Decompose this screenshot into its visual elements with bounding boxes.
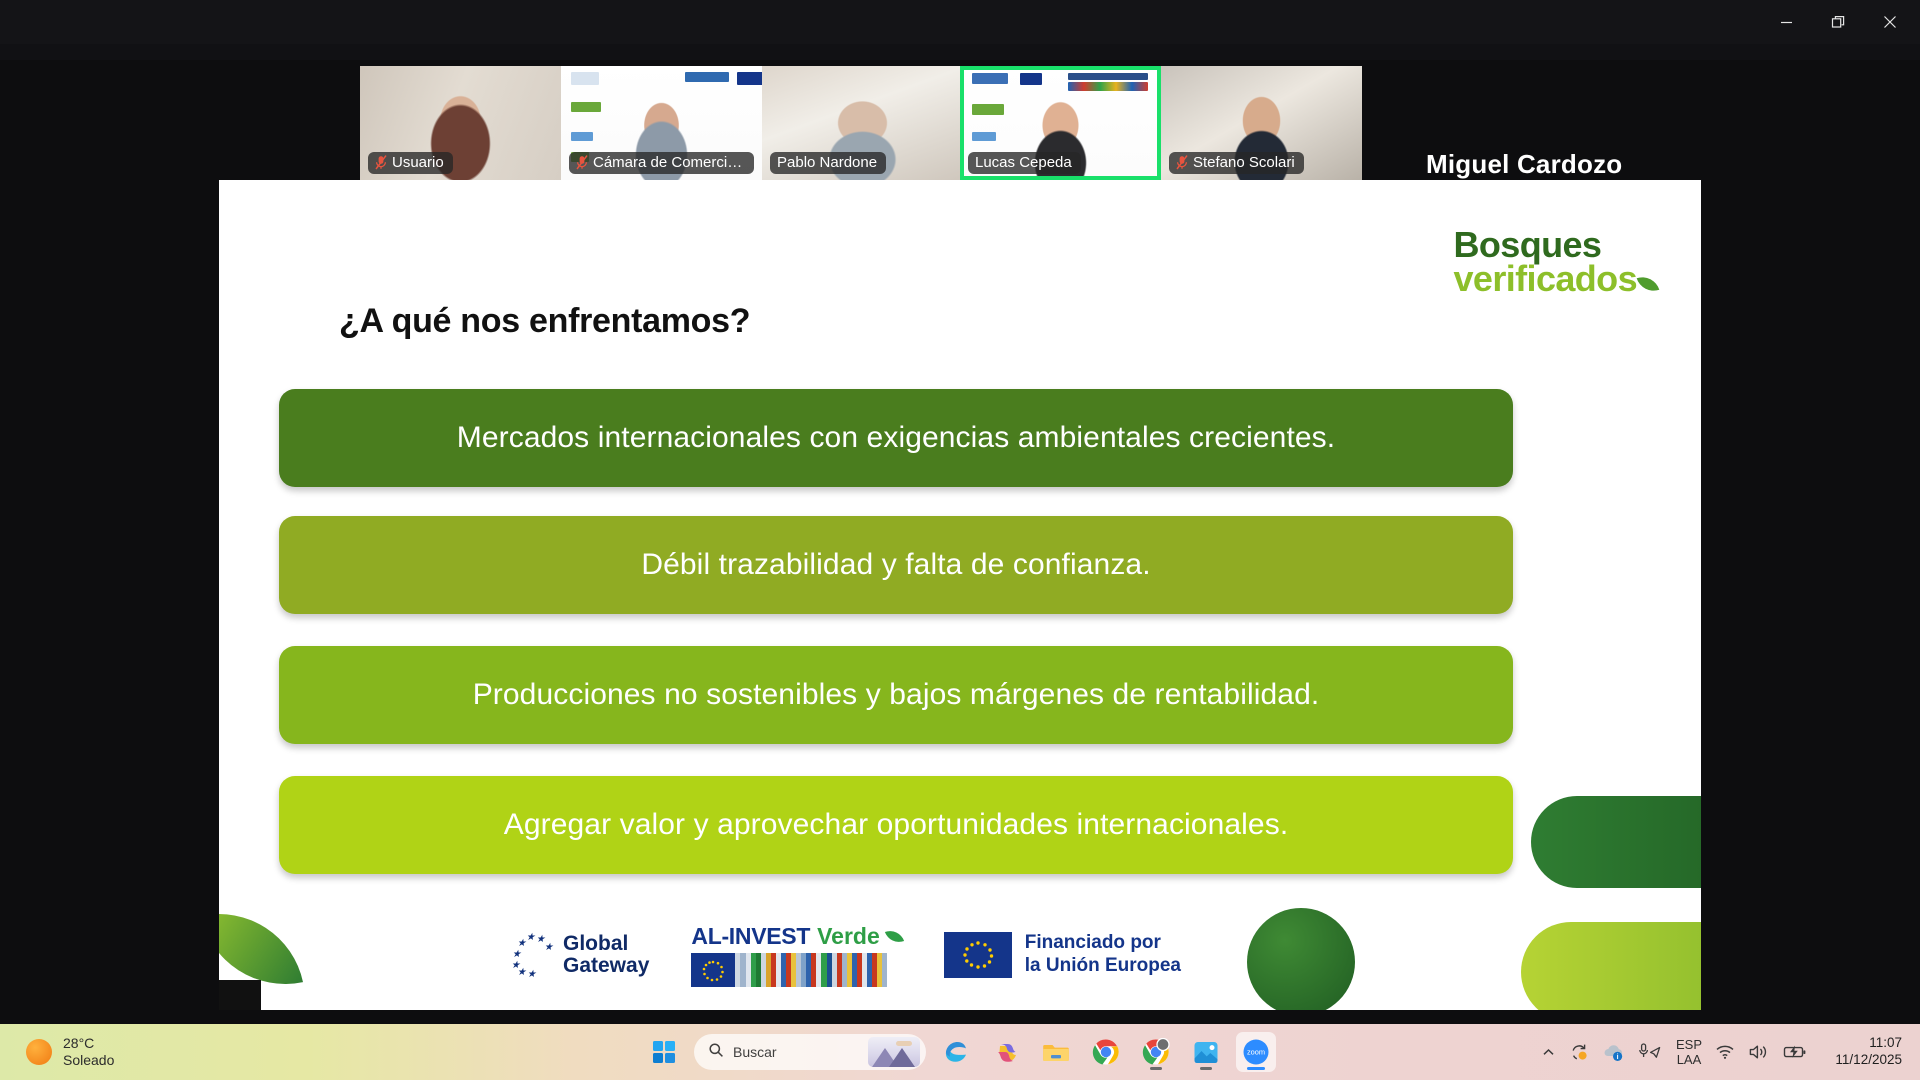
windows-logo-icon: [653, 1041, 676, 1064]
shared-screen-stage: Bosques verificados ¿A qué nos enfrentam…: [0, 180, 1920, 1024]
clock[interactable]: 11:07 11/12/2025: [1820, 1035, 1902, 1069]
leaf-icon: [1637, 273, 1660, 296]
challenge-bar-4: Agregar valor y aprovechar oportunidades…: [279, 776, 1513, 874]
challenge-bar-2: Débil trazabilidad y falta de confianza.: [279, 516, 1513, 614]
challenge-bar-text: Producciones no sostenibles y bajos márg…: [279, 678, 1513, 712]
participant-name-chip: Pablo Nardone: [770, 152, 886, 174]
wifi-icon[interactable]: [1715, 1044, 1735, 1060]
taskbar-app-zoom[interactable]: zoom: [1236, 1032, 1276, 1072]
zoom-meeting-window: Usuario Cámara de Comercio It... Pabl: [0, 0, 1920, 1024]
stars-icon: ★★ ★★ ★★ ★★: [509, 933, 555, 977]
challenge-bar-3: Producciones no sostenibles y bajos márg…: [279, 646, 1513, 744]
participant-name: Usuario: [392, 154, 444, 171]
eu-flag-icon: [691, 953, 735, 987]
participant-name: Stefano Scolari: [1193, 154, 1295, 171]
eu-funding-line-1: Financiado por: [1025, 932, 1181, 955]
clock-time: 11:07: [1820, 1035, 1902, 1052]
battery-charging-icon[interactable]: [1783, 1044, 1807, 1060]
muted-mic-icon: [576, 155, 588, 170]
color-stripes: [691, 953, 887, 987]
weather-condition: Soleado: [63, 1052, 114, 1070]
participant-tile-lucas-cepeda[interactable]: Lucas Cepeda: [960, 66, 1161, 180]
muted-mic-icon: [375, 155, 387, 170]
microphone-muted-icon[interactable]: [1637, 1042, 1663, 1062]
challenge-bar-text: Débil trazabilidad y falta de confianza.: [279, 548, 1513, 582]
presentation-slide: Bosques verificados ¿A qué nos enfrentam…: [219, 180, 1701, 1010]
decorative-shape-right-top: [1531, 796, 1701, 888]
participant-tile-usuario[interactable]: Usuario: [360, 66, 561, 180]
keyboard-variant: LAA: [1676, 1052, 1702, 1067]
virtual-background-logos: [964, 70, 1157, 110]
keyboard-layout-indicator[interactable]: ESP LAA: [1676, 1037, 1702, 1068]
taskbar-app-edge[interactable]: [936, 1032, 976, 1072]
al-invest-verde-logo: AL-INVEST Verde: [691, 923, 901, 987]
participant-name-chip: Lucas Cepeda: [968, 152, 1081, 174]
running-indicator: [1247, 1067, 1265, 1070]
taskbar-app-copilot[interactable]: [986, 1032, 1026, 1072]
running-indicator: [1150, 1067, 1162, 1070]
page-title: ¿A qué nos enfrentamos?: [339, 302, 750, 341]
decorative-circle: [1247, 908, 1355, 1010]
participant-name-chip: Cámara de Comercio It...: [569, 152, 754, 174]
virtual-background-logos: [565, 70, 758, 110]
taskbar-app-file-explorer[interactable]: [1036, 1032, 1076, 1072]
global-gateway-line-2: Gateway: [563, 955, 649, 977]
verde-text: Verde: [817, 923, 880, 950]
search-placeholder: Buscar: [733, 1044, 859, 1060]
taskbar-center-group: Buscar: [644, 1032, 1276, 1072]
search-input[interactable]: Buscar: [694, 1034, 926, 1070]
eu-funding-logo: Financiado por la Unión Europea: [944, 932, 1181, 978]
muted-mic-icon: [1176, 155, 1188, 170]
decorative-leaf-left: [219, 898, 303, 1000]
al-invest-text: AL-INVEST: [691, 923, 810, 950]
participant-tile-stefano-scolari[interactable]: Stefano Scolari: [1161, 66, 1362, 180]
participant-filmstrip: Usuario Cámara de Comercio It... Pabl: [0, 60, 1920, 180]
global-gateway-logo: ★★ ★★ ★★ ★★ Global Gateway: [509, 933, 649, 977]
weather-widget[interactable]: 28°C Soleado: [26, 1035, 114, 1070]
sync-status-icon[interactable]: [1569, 1042, 1589, 1062]
challenge-bar-text: Mercados internacionales con exigencias …: [279, 421, 1513, 455]
close-button[interactable]: [1864, 0, 1916, 44]
taskbar-app-chrome-profile[interactable]: [1136, 1032, 1176, 1072]
participant-name-chip: Stefano Scolari: [1169, 152, 1304, 174]
challenge-bar-text: Agregar valor y aprovechar oportunidades…: [279, 808, 1513, 842]
search-icon: [708, 1042, 724, 1063]
running-indicator: [1200, 1067, 1212, 1070]
sun-icon: [26, 1039, 52, 1065]
minimize-button[interactable]: [1760, 0, 1812, 44]
global-gateway-line-1: Global: [563, 933, 649, 955]
logo-line-1: Bosques: [1454, 228, 1658, 262]
leaf-icon: [885, 927, 904, 946]
decorative-shape-right-bottom: [1521, 922, 1701, 1010]
eu-funding-line-2: la Unión Europea: [1025, 955, 1181, 978]
bosques-verificados-logo: Bosques verificados: [1454, 228, 1658, 296]
participant-name: Pablo Nardone: [777, 154, 877, 171]
taskbar-app-photos[interactable]: [1186, 1032, 1226, 1072]
restore-button[interactable]: [1812, 0, 1864, 44]
windows-taskbar: 28°C Soleado Buscar: [0, 1024, 1920, 1080]
svg-text:i: i: [1617, 1054, 1619, 1061]
participant-name: Lucas Cepeda: [975, 154, 1072, 171]
window-titlebar: [0, 0, 1920, 44]
active-speaker-name: Miguel Cardozo: [1426, 149, 1920, 180]
logo-line-2: verificados: [1454, 258, 1638, 299]
participant-tile-pablo-nardone[interactable]: Pablo Nardone: [762, 66, 963, 180]
participant-name-chip: Usuario: [368, 152, 453, 174]
search-highlight-thumbnail: [868, 1037, 920, 1067]
start-button[interactable]: [644, 1032, 684, 1072]
svg-text:zoom: zoom: [1247, 1048, 1265, 1057]
challenge-bar-1: Mercados internacionales con exigencias …: [279, 389, 1513, 487]
show-hidden-icons-button[interactable]: [1541, 1045, 1556, 1060]
taskbar-app-chrome[interactable]: [1086, 1032, 1126, 1072]
weather-temperature: 28°C: [63, 1035, 114, 1053]
eu-flag-icon: [944, 932, 1012, 978]
volume-icon[interactable]: [1748, 1043, 1770, 1061]
keyboard-language: ESP: [1676, 1037, 1702, 1052]
system-tray: i ESP LAA: [1541, 1035, 1920, 1069]
participant-name: Cámara de Comercio It...: [593, 154, 745, 171]
onedrive-icon[interactable]: i: [1602, 1042, 1624, 1062]
clock-date: 11/12/2025: [1820, 1052, 1902, 1069]
decorative-black-bar: [219, 980, 261, 1010]
footer-logos: ★★ ★★ ★★ ★★ Global Gateway AL-INVEST Ver…: [509, 924, 1189, 986]
participant-tile-camara-de-comercio[interactable]: Cámara de Comercio It...: [561, 66, 762, 180]
